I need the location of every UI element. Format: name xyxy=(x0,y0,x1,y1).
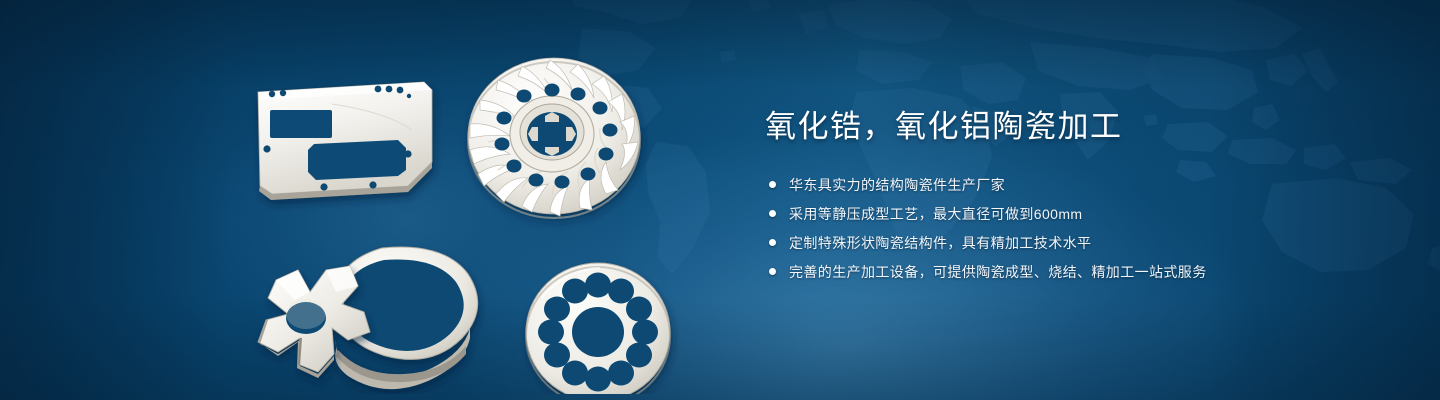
feature-text: 采用等静压成型工艺，最大直径可做到600mm xyxy=(789,204,1082,224)
ceramic-cross-plate-shape xyxy=(258,266,370,378)
banner-copy: 氧化锆，氧化铝陶瓷加工 华东具实力的结构陶瓷件生产厂家 采用等静压成型工艺，最大… xyxy=(765,108,1385,291)
ceramic-impeller-shape xyxy=(468,58,640,218)
bullet-dot-icon xyxy=(769,210,776,217)
bullet-dot-icon xyxy=(769,181,776,188)
feature-text: 华东具实力的结构陶瓷件生产厂家 xyxy=(789,175,1005,195)
list-item: 华东具实力的结构陶瓷件生产厂家 xyxy=(769,175,1385,195)
feature-list: 华东具实力的结构陶瓷件生产厂家 采用等静压成型工艺，最大直径可做到600mm 定… xyxy=(769,175,1385,282)
ceramic-perforated-ring-shape xyxy=(526,263,670,394)
page-title: 氧化锆，氧化铝陶瓷加工 xyxy=(765,108,1385,147)
list-item: 定制特殊形状陶瓷结构件，具有精加工技术水平 xyxy=(769,233,1385,253)
ceramic-flat-plate-shape xyxy=(258,82,432,200)
list-item: 采用等静压成型工艺，最大直径可做到600mm xyxy=(769,204,1385,224)
bullet-dot-icon xyxy=(769,239,776,246)
ceramic-products-image xyxy=(236,44,716,394)
bullet-dot-icon xyxy=(769,268,776,275)
feature-text: 定制特殊形状陶瓷结构件，具有精加工技术水平 xyxy=(789,233,1091,253)
hero-banner: 氧化锆，氧化铝陶瓷加工 华东具实力的结构陶瓷件生产厂家 采用等静压成型工艺，最大… xyxy=(0,0,1440,400)
feature-text: 完善的生产加工设备，可提供陶瓷成型、烧结、精加工一站式服务 xyxy=(789,262,1207,282)
list-item: 完善的生产加工设备，可提供陶瓷成型、烧结、精加工一站式服务 xyxy=(769,262,1385,282)
